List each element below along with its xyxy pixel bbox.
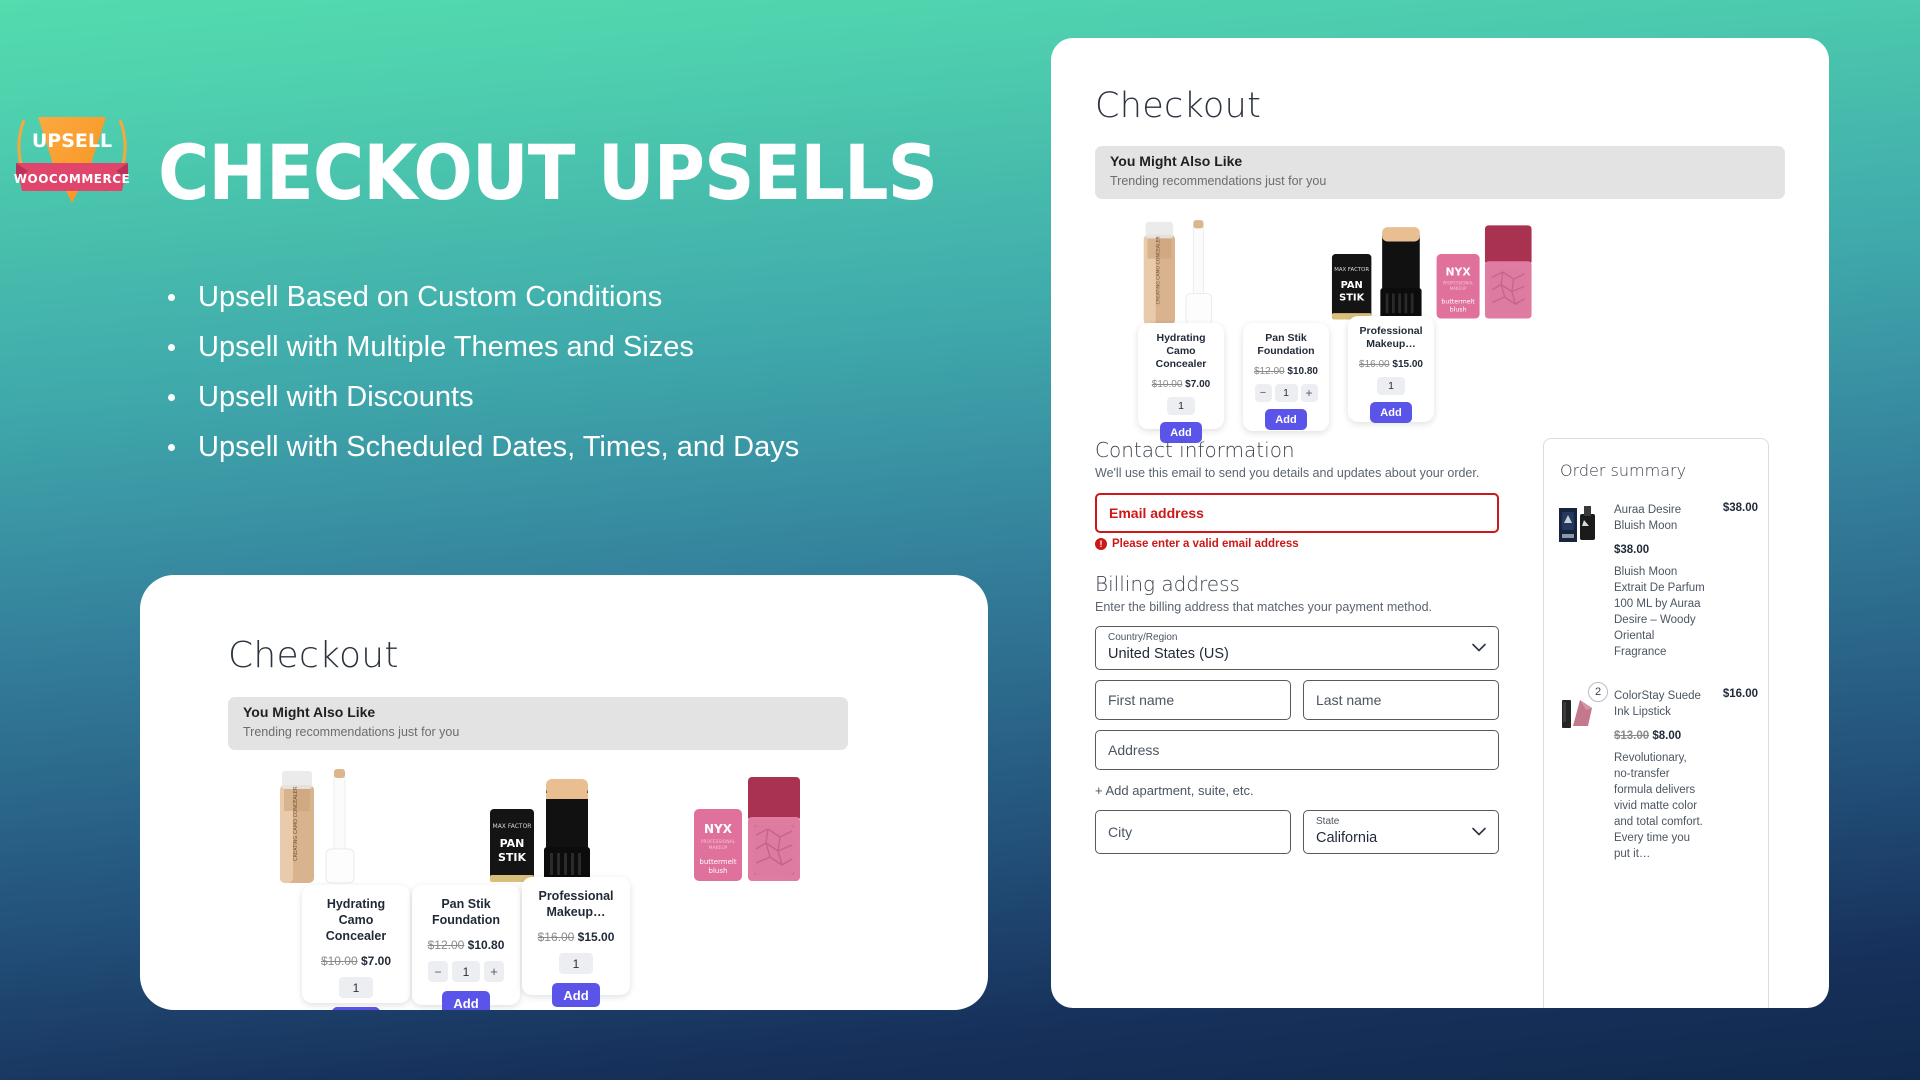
list-item: Upsell with Multiple Themes and Sizes bbox=[150, 322, 950, 372]
svg-text:PAN: PAN bbox=[1341, 280, 1363, 291]
upsell-banner-title: You Might Also Like bbox=[1110, 153, 1242, 169]
add-button[interactable]: Add bbox=[552, 983, 600, 1007]
product-new-price: $10.80 bbox=[1287, 366, 1318, 377]
country-region-label: Country/Region bbox=[1108, 632, 1177, 643]
list-item: Upsell with Discounts bbox=[150, 372, 950, 422]
last-name-field[interactable]: Last name bbox=[1303, 680, 1499, 720]
list-item: Upsell with Scheduled Dates, Times, and … bbox=[150, 422, 950, 472]
svg-text:PROFESSIONAL: PROFESSIONAL bbox=[1443, 281, 1474, 286]
address-field[interactable]: Address bbox=[1095, 730, 1499, 770]
logo-upsell-text: UPSELL bbox=[32, 130, 112, 152]
upsell-banner-subtitle: Trending recommendations just for you bbox=[1110, 174, 1326, 188]
product-new-price: $7.00 bbox=[361, 954, 391, 968]
upsell-banner-title: You Might Also Like bbox=[243, 704, 375, 720]
quantity-stepper[interactable]: 1 bbox=[1275, 384, 1298, 402]
quantity-decrease-button[interactable]: − bbox=[1255, 384, 1272, 402]
order-item-price: $8.00 bbox=[1652, 730, 1681, 742]
product-new-price: $15.00 bbox=[1392, 359, 1423, 370]
add-apartment-link[interactable]: + Add apartment, suite, etc. bbox=[1095, 783, 1499, 798]
order-item-price: $38.00 bbox=[1614, 544, 1758, 556]
quantity-stepper[interactable]: 1 bbox=[1377, 377, 1405, 395]
quantity-stepper[interactable]: 1 bbox=[559, 953, 593, 974]
order-summary: Order summary Auraa Desire Bluish Moon $… bbox=[1543, 438, 1769, 1008]
hero-section: UPSELL WOOCOMMERCE CHECKOUT UPSELLS Upse… bbox=[0, 0, 1010, 560]
quantity-decrease-button[interactable]: − bbox=[428, 961, 448, 982]
product-name: Hydrating Camo Concealer bbox=[1138, 332, 1224, 371]
quantity-increase-button[interactable]: + bbox=[484, 961, 504, 982]
order-summary-item: Auraa Desire Bluish Moon $38.00 $38.00 B… bbox=[1558, 502, 1758, 660]
add-button[interactable]: Add bbox=[442, 991, 490, 1010]
first-name-placeholder: First name bbox=[1108, 692, 1174, 708]
product-new-price: $10.80 bbox=[468, 938, 505, 952]
product-old-price: $10.00 bbox=[1152, 379, 1183, 390]
upsell-product-card[interactable]: Pan Stik Foundation $12.00 $10.80 − 1 + … bbox=[1243, 323, 1329, 431]
professional-makeup-blush-image: NYX PROFESSIONAL MAKEUP buttermelt blush bbox=[690, 771, 815, 896]
product-name: Professional Makeup… bbox=[522, 888, 630, 920]
logo-icon: UPSELL WOOCOMMERCE bbox=[12, 95, 132, 215]
billing-address-subtext: Enter the billing address that matches y… bbox=[1095, 600, 1499, 614]
checkout-panel: Checkout You Might Also Like Trending re… bbox=[1051, 38, 1829, 1008]
city-field[interactable]: City bbox=[1095, 810, 1291, 854]
product-name: Professional Makeup… bbox=[1348, 325, 1434, 351]
order-summary-item: 2 ColorStay Suede Ink Lipstick $16.00 $1… bbox=[1558, 688, 1758, 862]
product-new-price: $7.00 bbox=[1185, 379, 1210, 390]
svg-text:MAKEUP: MAKEUP bbox=[709, 845, 728, 851]
billing-address-heading: Billing address bbox=[1095, 572, 1499, 596]
svg-text:CREATING CAMO CONCEALER: CREATING CAMO CONCEALER bbox=[293, 786, 299, 861]
upsell-banner: You Might Also Like Trending recommendat… bbox=[1095, 146, 1785, 199]
quantity-increase-button[interactable]: + bbox=[1301, 384, 1318, 402]
hydrating-camo-concealer-image: CREATING CAMO CONCEALER bbox=[1131, 216, 1241, 336]
svg-text:MAX FACTOR: MAX FACTOR bbox=[493, 823, 532, 830]
order-item-line-price: $38.00 bbox=[1723, 502, 1758, 514]
checkout-preview-card-small: Checkout You Might Also Like Trending re… bbox=[140, 575, 988, 1010]
order-item-old-price: $13.00 bbox=[1614, 730, 1649, 742]
svg-text:MAX FACTOR: MAX FACTOR bbox=[1334, 267, 1369, 273]
product-name: Pan Stik Foundation bbox=[1243, 332, 1329, 358]
svg-text:PAN: PAN bbox=[500, 837, 525, 850]
upsell-banner: You Might Also Like Trending recommendat… bbox=[228, 697, 848, 750]
state-label: State bbox=[1316, 816, 1339, 827]
svg-text:blush: blush bbox=[1450, 306, 1467, 313]
svg-text:PROFESSIONAL: PROFESSIONAL bbox=[701, 839, 736, 845]
list-item: Upsell Based on Custom Conditions bbox=[150, 272, 950, 322]
svg-text:STIK: STIK bbox=[1339, 293, 1364, 304]
product-old-price: $16.00 bbox=[1359, 359, 1390, 370]
order-item-name: ColorStay Suede Ink Lipstick bbox=[1614, 688, 1706, 720]
quantity-stepper[interactable]: 1 bbox=[1167, 397, 1195, 415]
product-old-price: $12.00 bbox=[1254, 366, 1285, 377]
last-name-placeholder: Last name bbox=[1316, 692, 1381, 708]
error-icon: ! bbox=[1095, 538, 1107, 550]
professional-makeup-blush-image: NYX PROFESSIONAL MAKEUP buttermelt blush bbox=[1433, 220, 1545, 332]
checkout-form: Contact information We'll use this email… bbox=[1095, 438, 1499, 854]
city-placeholder: City bbox=[1108, 824, 1132, 840]
upsell-product-row: CREATING CAMO CONCEALER MAX FACTOR PAN S… bbox=[1095, 216, 1785, 431]
upsell-banner-subtitle: Trending recommendations just for you bbox=[243, 725, 459, 739]
hydrating-camo-concealer-image: CREATING CAMO CONCEALER bbox=[266, 765, 386, 895]
add-button[interactable]: Add bbox=[1265, 409, 1307, 430]
logo-woocommerce-text: WOOCOMMERCE bbox=[14, 172, 130, 186]
order-item-quantity-badge: 2 bbox=[1588, 682, 1608, 702]
page-title: CHECKOUT UPSELLS bbox=[158, 128, 937, 217]
state-select[interactable]: State California bbox=[1303, 810, 1499, 854]
product-old-price: $16.00 bbox=[538, 930, 575, 944]
country-region-value: United States (US) bbox=[1108, 646, 1229, 662]
email-error-message: ! Please enter a valid email address bbox=[1095, 538, 1499, 550]
upsell-product-card[interactable]: Professional Makeup… $16.00 $15.00 1 Add bbox=[522, 877, 630, 995]
feature-list: Upsell Based on Custom Conditions Upsell… bbox=[150, 272, 950, 472]
svg-text:buttermelt: buttermelt bbox=[699, 858, 737, 866]
order-item-description: Revolutionary, no-transfer formula deliv… bbox=[1614, 750, 1706, 862]
chevron-down-icon bbox=[1472, 828, 1486, 837]
svg-text:MAKEUP: MAKEUP bbox=[1450, 286, 1467, 291]
address-placeholder: Address bbox=[1108, 742, 1159, 758]
upsell-product-card[interactable]: Professional Makeup… $16.00 $15.00 1 Add bbox=[1348, 316, 1434, 422]
svg-text:STIK: STIK bbox=[498, 851, 527, 864]
product-new-price: $15.00 bbox=[578, 930, 615, 944]
email-field[interactable]: Email address bbox=[1095, 493, 1499, 533]
state-value: California bbox=[1316, 830, 1377, 846]
upsell-woocommerce-logo: UPSELL WOOCOMMERCE bbox=[12, 95, 132, 215]
contact-information-subtext: We'll use this email to send you details… bbox=[1095, 466, 1499, 480]
upsell-product-card[interactable]: Pan Stik Foundation $12.00 $10.80 − 1 + … bbox=[412, 885, 520, 1005]
add-button[interactable]: Add bbox=[332, 1007, 380, 1010]
product-name: Hydrating Camo Concealer bbox=[302, 896, 410, 944]
upsell-product-card[interactable]: Hydrating Camo Concealer $10.00 $7.00 1 … bbox=[302, 885, 410, 1003]
country-region-select[interactable]: Country/Region United States (US) bbox=[1095, 626, 1499, 670]
upsell-product-row: CREATING CAMO CONCEALER MAX FACTOR PAN S… bbox=[228, 765, 848, 1005]
quantity-stepper[interactable]: 1 bbox=[452, 961, 480, 982]
page-title: Checkout bbox=[1095, 86, 1261, 126]
order-item-name: Auraa Desire Bluish Moon bbox=[1614, 502, 1706, 534]
svg-text:NYX: NYX bbox=[704, 822, 733, 836]
add-button[interactable]: Add bbox=[1370, 402, 1412, 423]
email-error-text: Please enter a valid email address bbox=[1112, 538, 1299, 550]
product-name: Pan Stik Foundation bbox=[412, 896, 520, 928]
order-item-description: Bluish Moon Extrait De Parfum 100 ML by … bbox=[1614, 564, 1706, 660]
svg-text:NYX: NYX bbox=[1446, 266, 1472, 279]
contact-information-heading: Contact information bbox=[1095, 438, 1499, 462]
svg-text:buttermelt: buttermelt bbox=[1441, 298, 1475, 305]
page-title: Checkout bbox=[228, 635, 399, 676]
order-item-line-price: $16.00 bbox=[1723, 688, 1758, 700]
order-summary-heading: Order summary bbox=[1560, 461, 1768, 480]
product-old-price: $12.00 bbox=[428, 938, 465, 952]
product-thumbnail bbox=[1558, 502, 1600, 548]
quantity-stepper[interactable]: 1 bbox=[339, 977, 373, 998]
upsell-product-card[interactable]: Hydrating Camo Concealer $10.00 $7.00 1 … bbox=[1138, 323, 1224, 429]
email-placeholder: Email address bbox=[1109, 505, 1204, 521]
first-name-field[interactable]: First name bbox=[1095, 680, 1291, 720]
order-item-price-row: $13.00 $8.00 bbox=[1614, 730, 1758, 742]
product-old-price: $10.00 bbox=[321, 954, 358, 968]
svg-text:blush: blush bbox=[709, 867, 728, 875]
svg-text:CREATING CAMO CONCEALER: CREATING CAMO CONCEALER bbox=[1155, 236, 1161, 305]
chevron-down-icon bbox=[1472, 644, 1486, 653]
